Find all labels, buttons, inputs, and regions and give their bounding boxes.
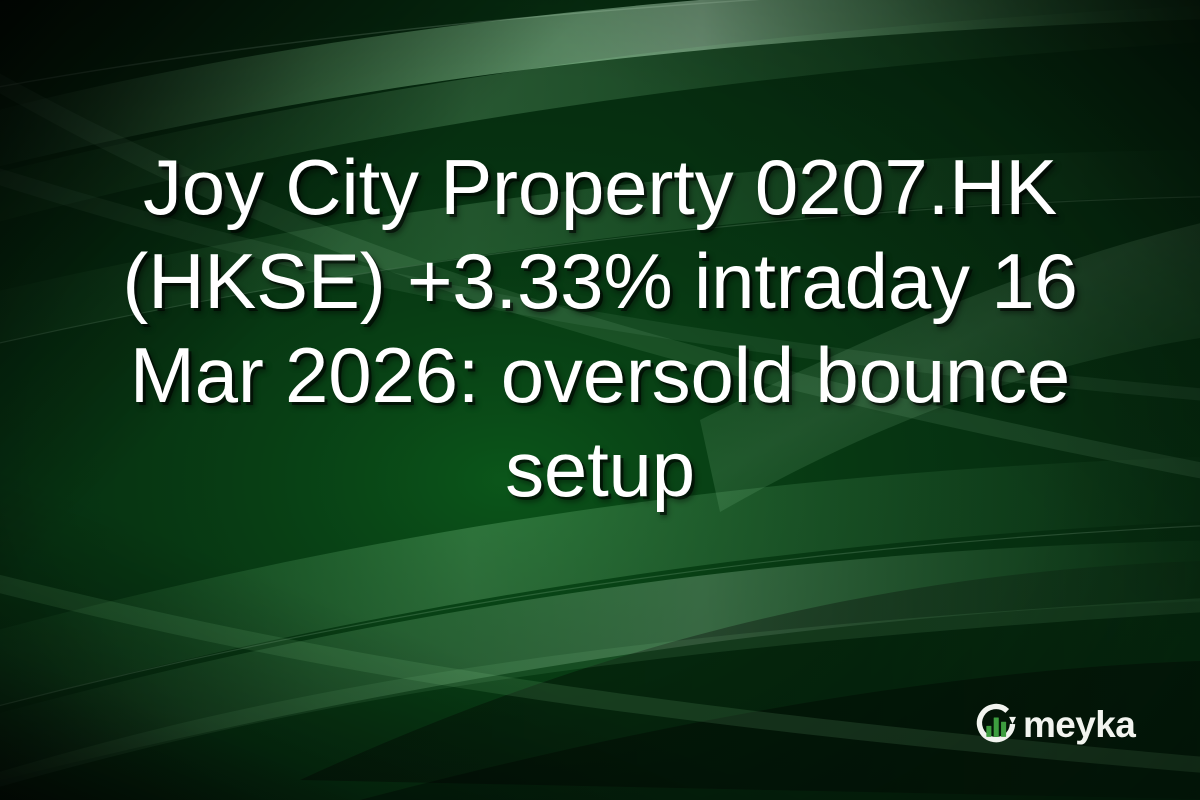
page-title: Joy City Property 0207.HK (HKSE) +3.33% … <box>95 140 1105 516</box>
brand-name: meyka <box>1023 706 1135 743</box>
headline-block: Joy City Property 0207.HK (HKSE) +3.33% … <box>0 140 1200 516</box>
share-card-canvas: Joy City Property 0207.HK (HKSE) +3.33% … <box>0 0 1200 800</box>
brand-logo: meyka <box>973 700 1135 748</box>
circular-arrow-bar-chart-icon <box>973 701 1019 747</box>
